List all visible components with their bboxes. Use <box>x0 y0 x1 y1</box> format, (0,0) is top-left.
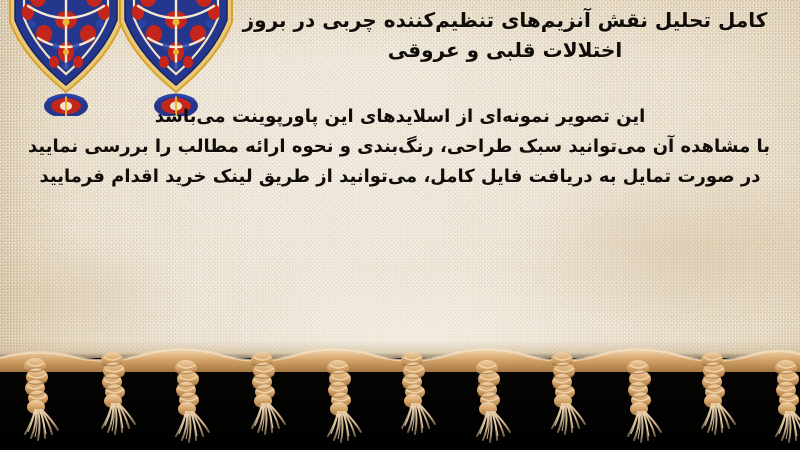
slide-title-line-2: اختلالات قلبی و عروقی <box>388 38 622 62</box>
carpet-medallion-group <box>0 0 240 110</box>
body-line-1: این تصویر نمونه‌ای از اسلایدهای این پاور… <box>30 108 770 126</box>
slide-body-text: این تصویر نمونه‌ای از اسلایدهای این پاور… <box>30 108 770 186</box>
presentation-slide: کامل تحلیل نقش آنزیم‌های تنظیم‌کننده چرب… <box>0 0 800 450</box>
body-line-2: با مشاهده آن می‌توانید سبک طراحی، رنگ‌بن… <box>30 138 770 156</box>
carpet-medallion-icon-secondary <box>118 0 234 120</box>
carpet-medallion-icon <box>8 0 124 120</box>
carpet-fringe <box>0 332 800 450</box>
slide-title-line-1: کامل تحلیل نقش آنزیم‌های تنظیم‌کننده چرب… <box>243 8 768 32</box>
slide-title: کامل تحلیل نقش آنزیم‌های تنظیم‌کننده چرب… <box>240 6 770 65</box>
body-line-3: در صورت تمایل به دریافت فایل کامل، می‌تو… <box>30 168 770 186</box>
